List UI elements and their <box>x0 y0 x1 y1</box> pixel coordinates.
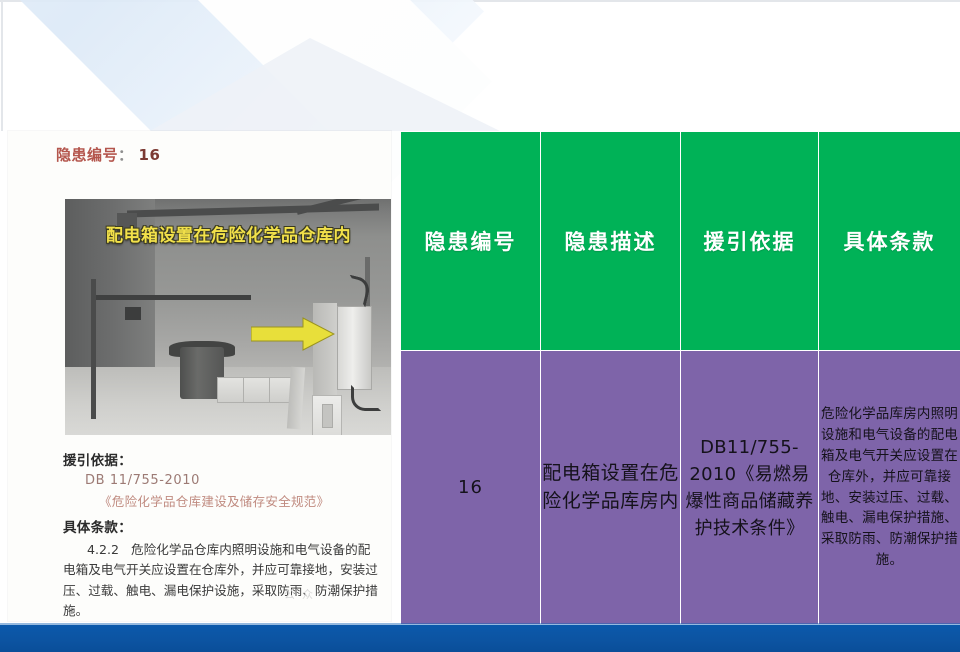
clause-heading: 具体条款： <box>63 516 381 536</box>
table-row: 16 配电箱设置在危险化学品库房内 DB11/755-2010《易燃易爆性商品储… <box>401 351 960 625</box>
hazard-number-label: 隐患编号 <box>56 146 118 164</box>
bottom-blue-bar <box>0 625 960 652</box>
column-header-hazard-no: 隐患编号 <box>401 132 541 351</box>
photo-vertical-pipe <box>91 279 96 419</box>
hazard-number-value: 16 <box>139 146 161 164</box>
cell-hazard-desc: 配电箱设置在危险化学品库房内 <box>541 351 681 625</box>
basis-heading: 援引依据： <box>63 449 381 469</box>
photo-distribution-box <box>337 306 372 390</box>
photo-horizontal-pipe <box>91 295 251 300</box>
column-header-hazard-desc: 隐患描述 <box>541 132 681 351</box>
cell-reference: DB11/755-2010《易燃易爆性商品储藏养护技术条件》 <box>681 351 819 625</box>
table-body: 16 配电箱设置在危险化学品库房内 DB11/755-2010《易燃易爆性商品储… <box>401 351 960 625</box>
left-text-block: 援引依据： DB 11/755-2010 《危险化学品仓库建设及储存安全规范》 … <box>63 449 381 621</box>
hazard-table-container: 隐患编号 隐患描述 援引依据 具体条款 16 配电箱设置在危险化学品库房内 DB… <box>400 131 960 625</box>
photo-crate <box>243 377 271 403</box>
cell-clause: 危险化学品库房内照明设施和电气设备的配电箱及电气开关应设置在仓库外，并应可靠接地… <box>819 351 960 625</box>
left-document-card: 隐患编号：16 <box>8 131 391 621</box>
photo-wall-outlet <box>125 307 141 320</box>
watermark-text: 公 众 <box>284 586 315 602</box>
hazard-photo: 配电箱设置在危险化学品仓库内 <box>65 199 391 435</box>
column-header-clause: 具体条款 <box>819 132 960 351</box>
standard-name: 《危险化学品仓库建设及储存安全规范》 <box>99 491 381 510</box>
left-border-line <box>1 0 3 131</box>
cell-hazard-no: 16 <box>401 351 541 625</box>
photo-caption-text: 配电箱设置在危险化学品仓库内 <box>65 221 391 246</box>
table-header-row-group: 隐患编号 隐患描述 援引依据 具体条款 <box>401 132 960 351</box>
triangle-hill-shape <box>150 38 500 131</box>
hazard-number-line: 隐患编号：16 <box>56 144 160 165</box>
top-border-line <box>0 0 960 2</box>
clause-paragraph: 4.2.2危险化学品仓库内照明设施和电气设备的配电箱及电气开关应设置在仓库外，并… <box>63 540 381 621</box>
photo-lower-cable <box>351 385 381 411</box>
standard-code: DB 11/755-2010 <box>85 473 381 488</box>
photo-crate <box>217 377 245 403</box>
hazard-number-colon: ： <box>118 146 134 164</box>
slide-canvas: 隐患编号：16 <box>0 0 960 652</box>
table-header-row: 隐患编号 隐患描述 援引依据 具体条款 <box>401 132 960 351</box>
column-header-reference: 援引依据 <box>681 132 819 351</box>
hazard-table: 隐患编号 隐患描述 援引依据 具体条款 16 配电箱设置在危险化学品库房内 DB… <box>400 131 960 625</box>
clause-number: 4.2.2 <box>87 542 119 557</box>
photo-lower-panel <box>312 395 342 435</box>
yellow-pointer-arrow <box>251 317 335 351</box>
